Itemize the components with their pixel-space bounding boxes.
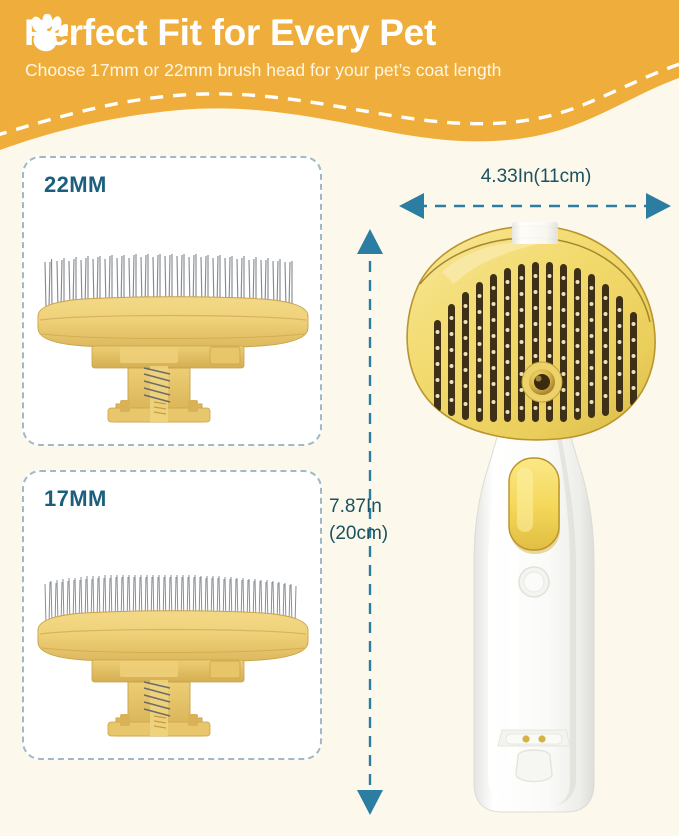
brush-plate: [38, 611, 308, 663]
header-banner: Perfect Fit for Every Pet Choose 17mm or…: [0, 0, 679, 160]
brush-plate: [38, 297, 308, 349]
base-button-outline: [516, 750, 552, 782]
brush-mount-bracket: [92, 660, 244, 736]
brush-head: [407, 226, 655, 440]
pet-grooming-brush-image: [398, 222, 670, 822]
card-label-22mm: 22MM: [44, 172, 107, 198]
page-subtitle: Choose 17mm or 22mm brush head for your …: [25, 59, 505, 82]
spec-card-22mm: 22MM: [22, 156, 322, 446]
header-text-block: Perfect Fit for Every Pet Choose 17mm or…: [24, 14, 624, 82]
arrow-up-head: [357, 229, 383, 254]
head-release-knob[interactable]: [522, 362, 562, 402]
spec-card-17mm: 17MM: [22, 470, 322, 760]
arrow-down-head: [357, 790, 383, 815]
infographic-page: Perfect Fit for Every Pet Choose 17mm or…: [0, 0, 679, 836]
page-title: Perfect Fit for Every Pet: [24, 14, 436, 51]
card-label-17mm: 17MM: [44, 486, 107, 512]
slider-button[interactable]: [509, 458, 560, 554]
arrow-right-head: [646, 193, 671, 219]
dimension-width-arrow: [398, 192, 672, 220]
brush-mount-bracket: [92, 346, 244, 422]
dimension-width-label: 4.33In(11cm): [405, 166, 667, 188]
brush-head-17mm-illustration: [24, 518, 320, 758]
brush-head-22mm-illustration: [24, 204, 320, 444]
arrow-left-head: [399, 193, 424, 219]
round-indent[interactable]: [519, 567, 549, 597]
